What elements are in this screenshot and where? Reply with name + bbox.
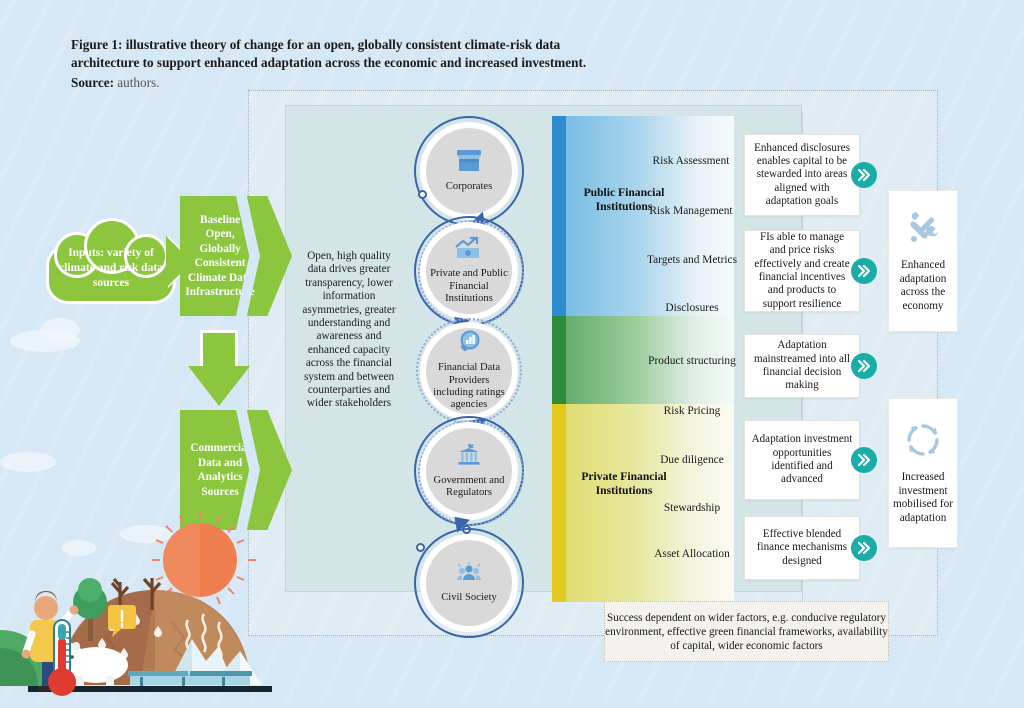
figure-caption: Figure 1: illustrative theory of change …	[71, 36, 631, 92]
down-arrow-stem	[200, 330, 238, 370]
outcome-box-5[interactable]: Effective blended finance mechanisms des…	[744, 516, 860, 580]
band-private-edge	[552, 404, 566, 602]
band-item-asset-allocation: Asset Allocation	[650, 548, 734, 562]
node-connector-dot-1	[418, 190, 427, 199]
band-item-risk-pricing: Risk Pricing	[650, 405, 734, 419]
node-data-providers-label: Financial Data Providers including ratin…	[426, 362, 512, 412]
money-growth-icon	[453, 236, 485, 265]
impact-box-increased-investment[interactable]: Increased investment mobilised for adapt…	[888, 398, 958, 548]
outcome-arrow-5[interactable]	[851, 535, 877, 561]
band-item-stewardship: Stewardship	[646, 502, 738, 516]
outcome-connector-4	[802, 398, 803, 420]
chart-magnifier-icon	[455, 330, 483, 359]
node-financial-institutions[interactable]: Private and Public Financial Institution…	[420, 222, 518, 320]
people-group-icon	[454, 562, 484, 589]
band-item-targets-metrics: Targets and Metrics	[646, 254, 738, 268]
outcome-connector-2	[802, 216, 803, 230]
band-private-title: Private Financial Institutions	[576, 470, 672, 498]
node-government-label: Government and Regulators	[426, 475, 512, 500]
node-government[interactable]: Government and Regulators	[420, 422, 518, 520]
node-corporates[interactable]: Corporates	[420, 122, 518, 220]
tools-wrench-screwdriver-icon	[904, 209, 942, 252]
node-corporates-label: Corporates	[443, 181, 495, 193]
outcome-arrow-3[interactable]	[851, 353, 877, 379]
circular-arrows-icon	[904, 421, 942, 464]
figure-source: Source: authors.	[71, 74, 631, 92]
impact-box-enhanced-adaptation[interactable]: Enhanced adaptation across the economy	[888, 190, 958, 332]
double-chevron-right-icon	[857, 264, 871, 278]
storefront-icon	[454, 149, 484, 178]
inputs-cloud-label: Inputs: variety of climate and risk data…	[52, 246, 170, 291]
band-item-risk-assessment: Risk Assessment	[648, 155, 734, 169]
double-chevron-right-icon	[857, 453, 871, 467]
band-item-due-diligence: Due diligence	[648, 454, 736, 468]
node-civil-society-label: Civil Society	[438, 592, 500, 604]
bank-building-icon	[455, 443, 483, 472]
inputs-cloud: Inputs: variety of climate and risk data…	[46, 218, 176, 304]
down-arrow-head	[188, 366, 250, 406]
down-arrow	[188, 330, 250, 406]
band-item-product-structuring: Product structuring	[648, 355, 736, 369]
band-item-risk-management: Risk Management	[644, 205, 738, 219]
chevron-commercial-label: Commercial Data and Analytics Sources	[180, 441, 256, 499]
double-chevron-right-icon	[857, 168, 871, 182]
double-chevron-right-icon	[857, 359, 871, 373]
impact-box-increased-investment-label: Increased investment mobilised for adapt…	[889, 471, 957, 525]
node-financial-institutions-label: Private and Public Financial Institution…	[426, 268, 512, 305]
center-narrative: Open, high quality data drives greater t…	[300, 250, 398, 411]
outcome-arrow-4[interactable]	[851, 447, 877, 473]
outcome-connector-6	[802, 580, 803, 602]
outcome-arrow-2[interactable]	[851, 258, 877, 284]
outcome-arrow-1[interactable]	[851, 162, 877, 188]
band-public-edge	[552, 116, 566, 316]
node-connector-dot-6	[416, 543, 425, 552]
climate-change-illustration	[0, 510, 300, 703]
outcome-connector-1	[802, 112, 803, 136]
node-civil-society[interactable]: Civil Society	[420, 534, 518, 632]
band-item-disclosures: Disclosures	[648, 302, 736, 316]
outcome-connector-3	[802, 312, 803, 334]
success-note: Success dependent on wider factors, e.g.…	[604, 601, 889, 662]
node-data-providers[interactable]: Financial Data Providers including ratin…	[420, 322, 518, 420]
background-cloud-3	[0, 452, 56, 472]
source-value: authors.	[114, 75, 159, 90]
outcome-box-4[interactable]: Adaptation investment opportunities iden…	[744, 420, 860, 500]
impact-box-enhanced-adaptation-label: Enhanced adaptation across the economy	[889, 259, 957, 313]
double-chevron-right-icon	[857, 541, 871, 555]
band-green-edge	[552, 316, 566, 404]
outcome-box-1[interactable]: Enhanced disclosures enables capital to …	[744, 134, 860, 216]
source-label: Source:	[71, 75, 114, 90]
figure-title: Figure 1: illustrative theory of change …	[71, 36, 631, 71]
outcome-box-2[interactable]: FIs able to manage and price risks effec…	[744, 230, 860, 312]
background-cloud-2	[40, 318, 80, 342]
outcome-connector-5	[802, 500, 803, 516]
outcome-box-3[interactable]: Adaptation mainstreamed into all financi…	[744, 334, 860, 398]
